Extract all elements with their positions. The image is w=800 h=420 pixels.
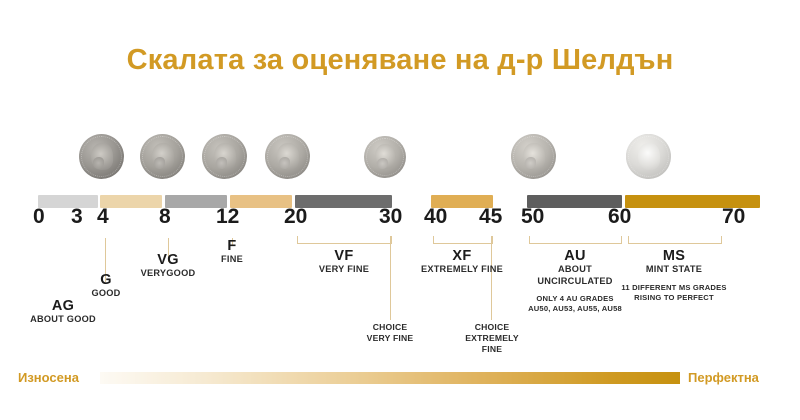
scale-tick-8: 8	[159, 206, 171, 228]
footer-label-worn: Износена	[18, 370, 79, 386]
scale-segment-0-3	[38, 195, 98, 208]
scale-tick-20: 20	[284, 206, 307, 228]
scale-tick-4: 4	[97, 206, 109, 228]
sheldon-scale-infographic: Скалата за оценяване на д-р Шелдън	[0, 0, 800, 420]
footer-gradient-bar	[100, 372, 680, 384]
scale-tick-0: 0	[33, 206, 45, 228]
grade-abbr: AG	[8, 298, 118, 314]
bracket-au	[529, 236, 622, 244]
grade-full: FINE	[192, 254, 272, 266]
scale-tick-3: 3	[71, 206, 83, 228]
scale-segment-20-30	[295, 195, 392, 208]
choice-label-extremely-fine: CHOICE EXTREMELY FINE	[452, 322, 532, 355]
grade-abbr: F	[192, 238, 272, 254]
grade-note-line2: RISING TO PERFECT	[611, 293, 737, 303]
grade-label-xf: XF EXTREMELY FINE	[412, 248, 512, 276]
coin-vg	[202, 134, 247, 179]
coin-vf	[364, 136, 406, 178]
scale-tick-40: 40	[424, 206, 447, 228]
grade-label-ag: AG ABOUT GOOD	[8, 298, 118, 326]
grade-full: VERYGOOD	[118, 268, 218, 280]
scale-tick-30: 30	[379, 206, 402, 228]
grade-label-f: F FINE	[192, 238, 272, 266]
choice-line2: VERY FINE	[348, 333, 432, 344]
scale-tick-50: 50	[521, 206, 544, 228]
scale-tick-45: 45	[479, 206, 502, 228]
grade-label-ms: MS MINT STATE 11 DIFFERENT MS GRADES RIS…	[611, 248, 737, 303]
grade-note-line2: AU50, AU53, AU55, AU58	[512, 304, 638, 314]
page-title: Скалата за оценяване на д-р Шелдън	[0, 44, 800, 77]
choice-label-very-fine: CHOICE VERY FINE	[348, 322, 432, 344]
grade-abbr: MS	[611, 248, 737, 264]
choice-line3: FINE	[452, 344, 532, 355]
grade-full: EXTREMELY FINE	[412, 264, 512, 276]
grade-abbr: XF	[412, 248, 512, 264]
footer-label-perfect: Перфектна	[688, 370, 759, 386]
bracket-xf	[433, 236, 493, 244]
scale-tick-60: 60	[608, 206, 631, 228]
grade-full: MINT STATE	[611, 264, 737, 276]
coin-ms	[626, 134, 671, 179]
scale-segment-4-8	[100, 195, 162, 208]
bracket-ms	[628, 236, 722, 244]
grade-full: VERY FINE	[294, 264, 394, 276]
grade-abbr: VF	[294, 248, 394, 264]
coin-portrait-detail	[377, 158, 388, 169]
grade-label-vf: VF VERY FINE	[294, 248, 394, 276]
scale-tick-70: 70	[722, 206, 745, 228]
grade-full: GOOD	[61, 288, 151, 300]
coin-f	[265, 134, 310, 179]
choice-line1: CHOICE	[348, 322, 432, 333]
scale-tick-12: 12	[216, 206, 239, 228]
bracket-vf	[297, 236, 392, 244]
grade-note-line1: 11 DIFFERENT MS GRADES	[611, 283, 737, 293]
grade-full: ABOUT GOOD	[8, 314, 118, 326]
coin-g	[140, 134, 185, 179]
coin-ag	[79, 134, 124, 179]
coin-au	[511, 134, 556, 179]
choice-line2: EXTREMELY	[452, 333, 532, 344]
choice-line1: CHOICE	[452, 322, 532, 333]
